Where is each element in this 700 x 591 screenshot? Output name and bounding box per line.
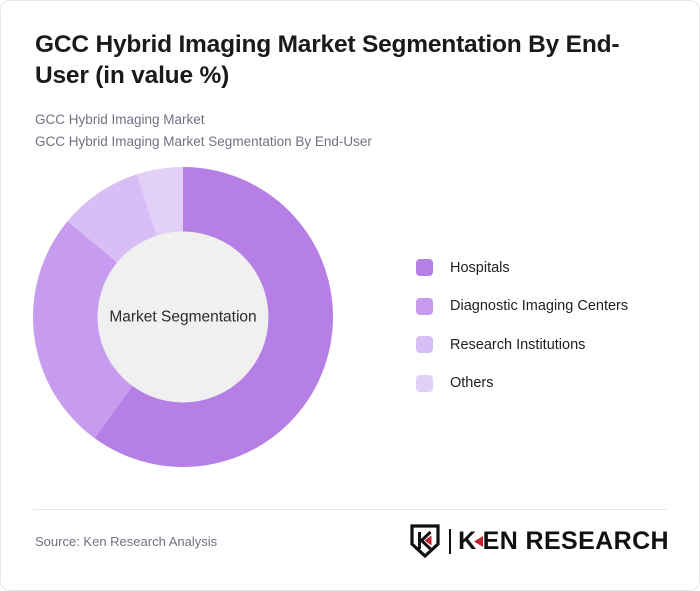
- logo-wordmark-text: EN RESEARCH: [483, 529, 669, 554]
- legend-item[interactable]: Others: [416, 364, 628, 403]
- chart-card: GCC Hybrid Imaging Market Segmentation B…: [0, 0, 700, 591]
- logo-wordmark: K EN RESEARCH: [458, 529, 669, 554]
- legend-swatch-icon: [416, 336, 433, 353]
- legend-item[interactable]: Diagnostic Imaging Centers: [416, 287, 628, 326]
- ken-research-logo: K EN RESEARCH: [410, 524, 669, 558]
- ken-shield-icon: [410, 524, 440, 558]
- chart-subtitle-secondary: GCC Hybrid Imaging Market Segmentation B…: [35, 131, 665, 153]
- donut-chart: Market Segmentation: [33, 167, 333, 467]
- footer-divider: [33, 509, 667, 510]
- source-text: Source: Ken Research Analysis: [35, 534, 217, 549]
- legend-item[interactable]: Hospitals: [416, 248, 628, 287]
- donut-hole: Market Segmentation: [98, 232, 269, 403]
- legend-swatch-icon: [416, 259, 433, 276]
- chart-footer: Source: Ken Research Analysis K EN RESEA…: [35, 524, 669, 558]
- legend-item-label: Others: [450, 375, 494, 391]
- legend-item-label: Research Institutions: [450, 337, 585, 353]
- legend-item-label: Diagnostic Imaging Centers: [450, 298, 628, 314]
- logo-divider: [449, 529, 451, 554]
- legend-item[interactable]: Research Institutions: [416, 325, 628, 364]
- chart-header: GCC Hybrid Imaging Market Segmentation B…: [1, 1, 699, 152]
- legend-swatch-icon: [416, 375, 433, 392]
- donut-center-label: Market Segmentation: [109, 308, 256, 326]
- chart-subtitle-primary: GCC Hybrid Imaging Market: [35, 109, 665, 131]
- chart-legend: HospitalsDiagnostic Imaging CentersResea…: [416, 248, 628, 402]
- page-title: GCC Hybrid Imaging Market Segmentation B…: [35, 29, 645, 92]
- chart-body: Market Segmentation HospitalsDiagnostic …: [1, 152, 699, 482]
- legend-item-label: Hospitals: [450, 260, 510, 276]
- legend-swatch-icon: [416, 298, 433, 315]
- chart-subtitles: GCC Hybrid Imaging Market GCC Hybrid Ima…: [35, 109, 665, 153]
